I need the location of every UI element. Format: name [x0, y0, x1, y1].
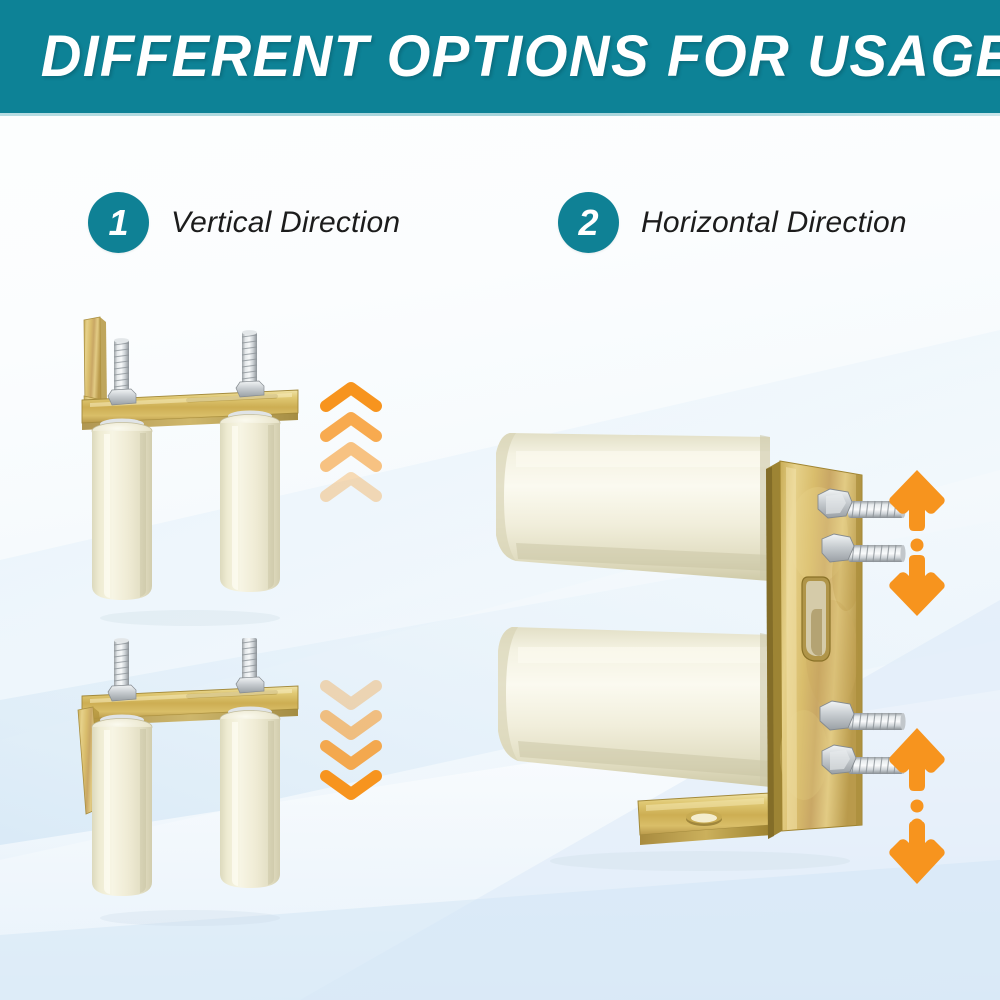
product-image-horizontal: [470, 395, 910, 875]
arrow-down-icon: [889, 821, 944, 884]
arrow-group-double-top: [882, 468, 952, 618]
arrow-group-up-chevrons: [316, 380, 386, 515]
dot-icon: [911, 800, 924, 813]
chevron-up-icon: [326, 478, 376, 496]
arrow-up-icon: [889, 728, 944, 791]
banner-underline: [0, 113, 1000, 116]
chevron-down-icon: [326, 776, 376, 794]
dot-icon: [911, 539, 924, 552]
step-1-label: Vertical Direction: [171, 206, 400, 240]
step-2-badge: 2: [558, 192, 619, 253]
page-title: DIFFERENT OPTIONS FOR USAGE: [0, 23, 1000, 90]
chevron-up-icon: [326, 418, 376, 436]
chevron-down-icon: [326, 716, 376, 734]
product-image-vertical-up: [60, 300, 330, 630]
step-1-badge: 1: [88, 192, 149, 253]
chevron-up-icon: [326, 388, 376, 406]
header-banner: DIFFERENT OPTIONS FOR USAGE: [0, 0, 1000, 113]
step-1-header: 1 Vertical Direction: [88, 192, 400, 253]
arrow-group-down-chevrons: [316, 678, 386, 813]
product-image-vertical-down: [60, 638, 330, 928]
chevron-down-icon: [326, 746, 376, 764]
arrow-down-icon: [889, 555, 944, 616]
chevron-down-icon: [326, 686, 376, 704]
step-2-label: Horizontal Direction: [641, 206, 907, 240]
chevron-up-icon: [326, 448, 376, 466]
arrow-up-icon: [889, 470, 944, 531]
infographic-page: DIFFERENT OPTIONS FOR USAGE 1 Vertical D…: [0, 0, 1000, 1000]
step-2-header: 2 Horizontal Direction: [558, 192, 907, 253]
arrow-group-double-bottom: [882, 726, 952, 886]
